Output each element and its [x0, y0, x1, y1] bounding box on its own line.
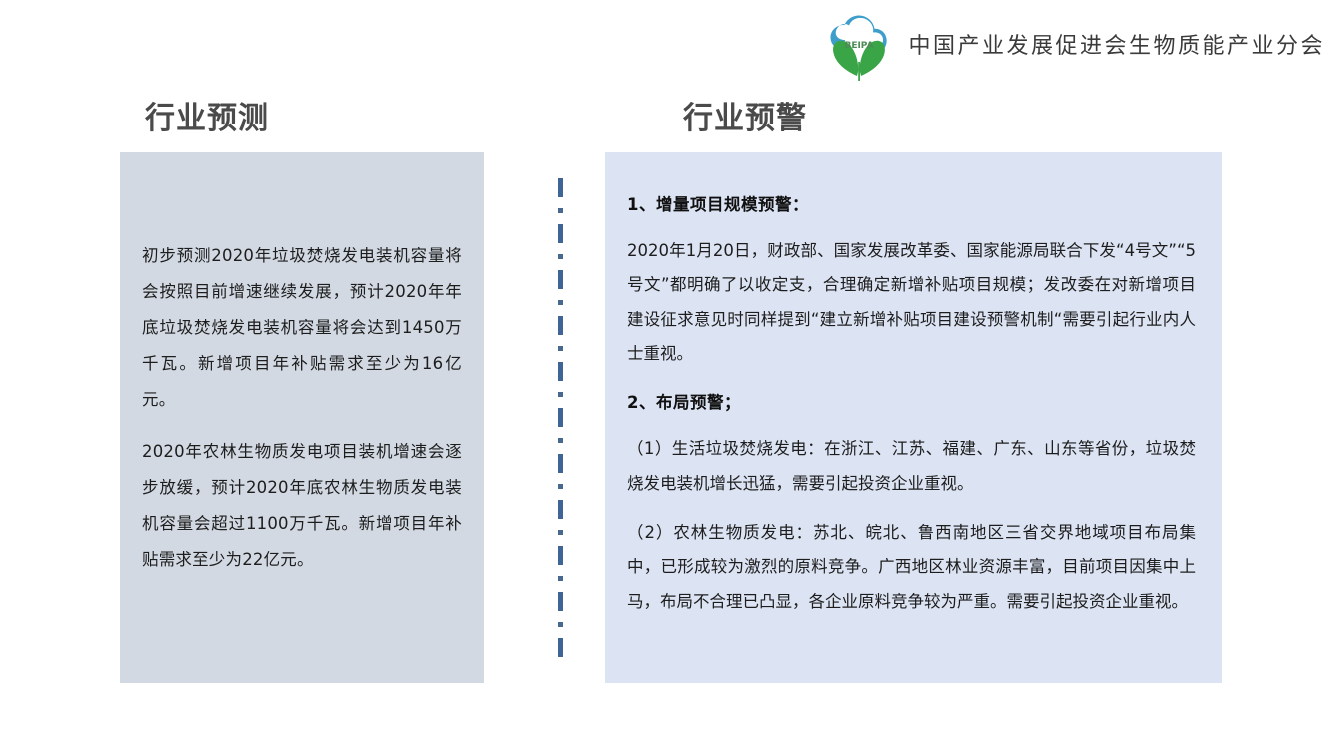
warning-section-1-heading: 1、增量项目规模预警：	[627, 188, 1196, 221]
section-title-forecast: 行业预测	[145, 104, 269, 134]
brand-header: BEIPA 中国产业发展促进会生物质能产业分会	[824, 12, 1325, 84]
beipa-logo: BEIPA	[824, 14, 898, 82]
warning-section-1-body: 2020年1月20日，财政部、国家发展改革委、国家能源局联合下发“4号文”“5号…	[627, 234, 1196, 371]
warning-section-2-item-1: （1）生活垃圾焚烧发电：在浙江、江苏、福建、广东、山东等省份，垃圾焚烧发电装机增…	[627, 432, 1196, 501]
brand-title: 中国产业发展促进会生物质能产业分会	[908, 36, 1325, 60]
warning-panel: 1、增量项目规模预警： 2020年1月20日，财政部、国家发展改革委、国家能源局…	[605, 152, 1222, 683]
column-divider	[558, 178, 563, 662]
forecast-paragraph-1: 初步预测2020年垃圾焚烧发电装机容量将会按照目前增速继续发展，预计2020年年…	[142, 238, 462, 418]
warning-section-2-heading: 2、布局预警；	[627, 386, 1196, 419]
section-title-warning: 行业预警	[683, 104, 807, 134]
forecast-panel: 初步预测2020年垃圾焚烧发电装机容量将会按照目前增速继续发展，预计2020年年…	[120, 152, 484, 683]
forecast-paragraph-2: 2020年农林生物质发电项目装机增速会逐步放缓，预计2020年底农林生物质发电装…	[142, 434, 462, 578]
logo-abbr-text: BEIPA	[845, 41, 874, 51]
warning-section-2-item-2: （2）农林生物质发电：苏北、皖北、鲁西南地区三省交界地域项目布局集中，已形成较为…	[627, 516, 1196, 619]
